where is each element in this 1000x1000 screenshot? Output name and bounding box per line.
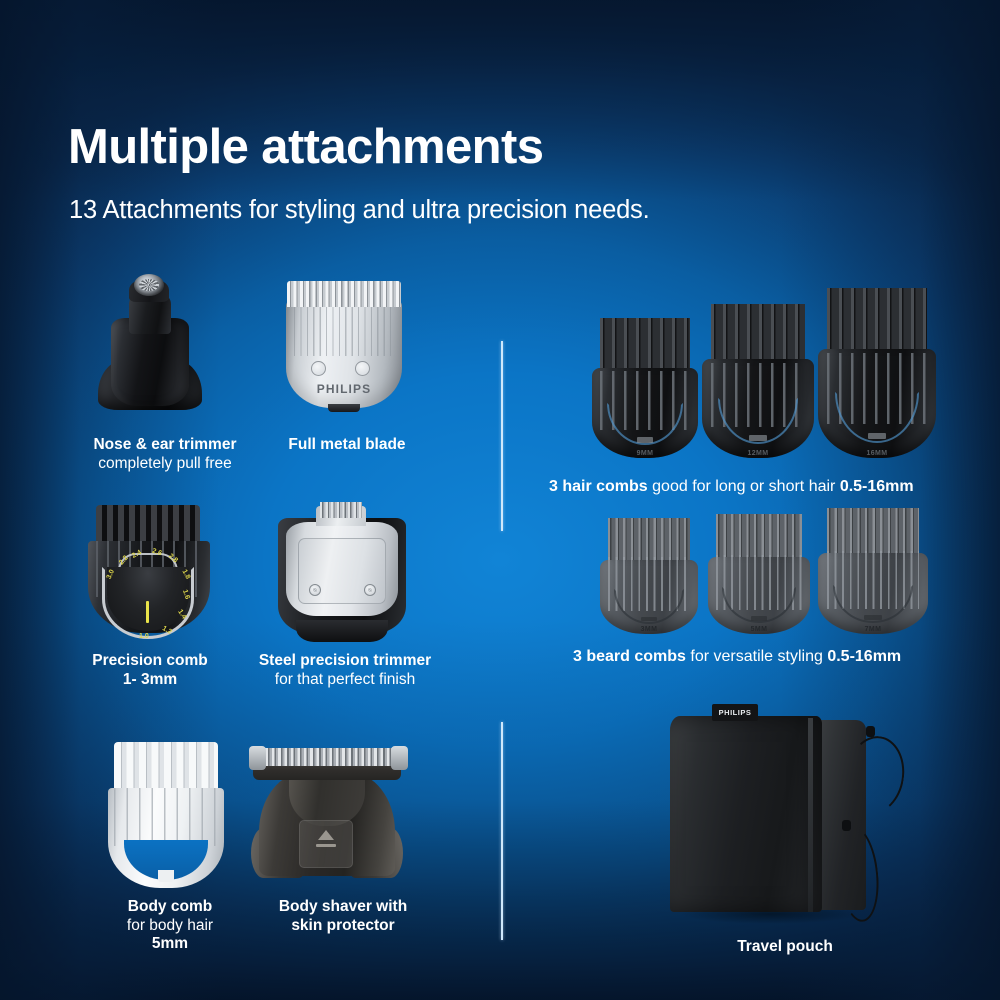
steel-trimmer-screw-left-icon	[309, 584, 321, 596]
steel-trimmer-foot	[296, 620, 388, 642]
caption-subtitle: for body hair	[95, 917, 245, 936]
label-range: 0.5-16mm	[827, 648, 901, 665]
comb-size-label: 9MM	[592, 450, 698, 457]
steel-trimmer-screw-right-icon	[364, 584, 376, 596]
product-beard-comb-3mm: 3MM	[600, 518, 698, 634]
product-hair-comb-16mm: 16MM	[818, 288, 936, 458]
pouch-cord-knot-upper	[866, 726, 875, 737]
product-nose-ear-trimmer	[93, 272, 225, 422]
comb-nub	[749, 435, 767, 441]
comb-nub	[864, 615, 882, 620]
caption-subtitle: for that perfect finish	[240, 671, 450, 690]
comb-size-label: 16MM	[818, 450, 936, 457]
eject-bar-icon	[316, 844, 336, 847]
pouch-brand-text: PHILIPS	[719, 708, 752, 717]
caption-title: Travel pouch	[660, 938, 910, 957]
caption-size: 5mm	[95, 935, 245, 954]
body-comb-teeth-overlay	[114, 788, 218, 846]
product-travel-pouch: PHILIPS	[670, 698, 910, 924]
metal-blade-pin-right-icon	[355, 361, 370, 376]
product-steel-precision-trimmer	[272, 500, 412, 648]
precision-comb-scale-1-0: 1.0	[139, 633, 149, 640]
body-shaver-blade	[259, 748, 395, 766]
label-lead: 3 beard combs	[573, 648, 686, 665]
pouch-seam	[808, 718, 813, 912]
product-body-shaver	[245, 742, 410, 887]
comb-size-label: 7MM	[818, 626, 928, 633]
body-shaver-blade-cap-left	[249, 746, 266, 770]
precision-comb-dial-needle	[146, 601, 149, 623]
label-middle: for versatile styling	[686, 648, 827, 665]
caption-title: Precision comb	[60, 652, 240, 671]
product-full-metal-blade: PHILIPS	[278, 276, 410, 421]
label-middle: good for long or short hair	[648, 478, 840, 495]
pouch-cord-knot-lower	[842, 820, 851, 831]
caption-full-metal-blade: Full metal blade	[252, 436, 442, 455]
nose-trimmer-rotary-blade-icon	[134, 274, 164, 296]
caption-subtitle: completely pull free	[40, 455, 290, 474]
comb-nub	[751, 616, 767, 621]
page-subtitle: 13 Attachments for styling and ultra pre…	[69, 196, 649, 225]
page-title: Multiple attachments	[68, 122, 543, 173]
product-beard-comb-5mm: 5MM	[708, 514, 810, 634]
metal-blade-stripes	[294, 304, 394, 356]
pouch-brand-tag: PHILIPS	[712, 704, 758, 721]
caption-subtitle: skin protector	[248, 917, 438, 936]
eject-triangle-icon	[318, 830, 334, 840]
caption-body-comb: Body comb for body hair 5mm	[95, 898, 245, 954]
body-shaver-blade-cap-right	[391, 746, 408, 770]
product-hair-comb-9mm: 9MM	[592, 318, 698, 458]
comb-nub	[637, 437, 654, 443]
metal-blade-teeth	[287, 281, 401, 307]
metal-blade-brand-logo: PHILIPS	[278, 382, 410, 396]
steel-trimmer-tip-teeth	[320, 502, 362, 518]
label-range: 0.5-16mm	[840, 478, 914, 495]
metal-blade-foot	[328, 404, 360, 412]
caption-steel-precision-trimmer: Steel precision trimmer for that perfect…	[240, 652, 450, 689]
label-lead: 3 hair combs	[549, 478, 648, 495]
pouch-front-panel	[670, 716, 822, 912]
comb-nub	[641, 617, 657, 622]
caption-title: Full metal blade	[252, 436, 442, 455]
label-hair-combs: 3 hair combs good for long or short hair…	[549, 478, 914, 496]
product-body-comb	[108, 742, 226, 890]
caption-title: Steel precision trimmer	[240, 652, 450, 671]
caption-precision-comb: Precision comb 1- 3mm	[60, 652, 240, 689]
body-comb-nub	[158, 870, 174, 882]
divider-upper	[501, 341, 503, 531]
caption-title: Body shaver with	[248, 898, 438, 917]
product-hair-comb-12mm: 12MM	[702, 304, 814, 458]
product-beard-comb-7mm: 7MM	[818, 508, 928, 634]
label-beard-combs: 3 beard combs for versatile styling 0.5-…	[573, 648, 901, 666]
caption-size: 1- 3mm	[60, 671, 240, 690]
product-precision-comb: 2.4 2.6 2.2 2.8 3.0 1.8 1.6 1.4 1.2 1.0	[82, 505, 216, 645]
comb-nub	[868, 433, 887, 440]
comb-size-label: 12MM	[702, 450, 814, 457]
comb-size-label: 5MM	[708, 626, 810, 633]
metal-blade-pin-left-icon	[311, 361, 326, 376]
product-infographic: Multiple attachments 13 Attachments for …	[0, 0, 1000, 1000]
caption-travel-pouch: Travel pouch	[660, 938, 910, 957]
caption-body-shaver: Body shaver with skin protector	[248, 898, 438, 935]
comb-size-label: 3MM	[600, 626, 698, 633]
divider-lower	[501, 722, 503, 940]
caption-title: Body comb	[95, 898, 245, 917]
